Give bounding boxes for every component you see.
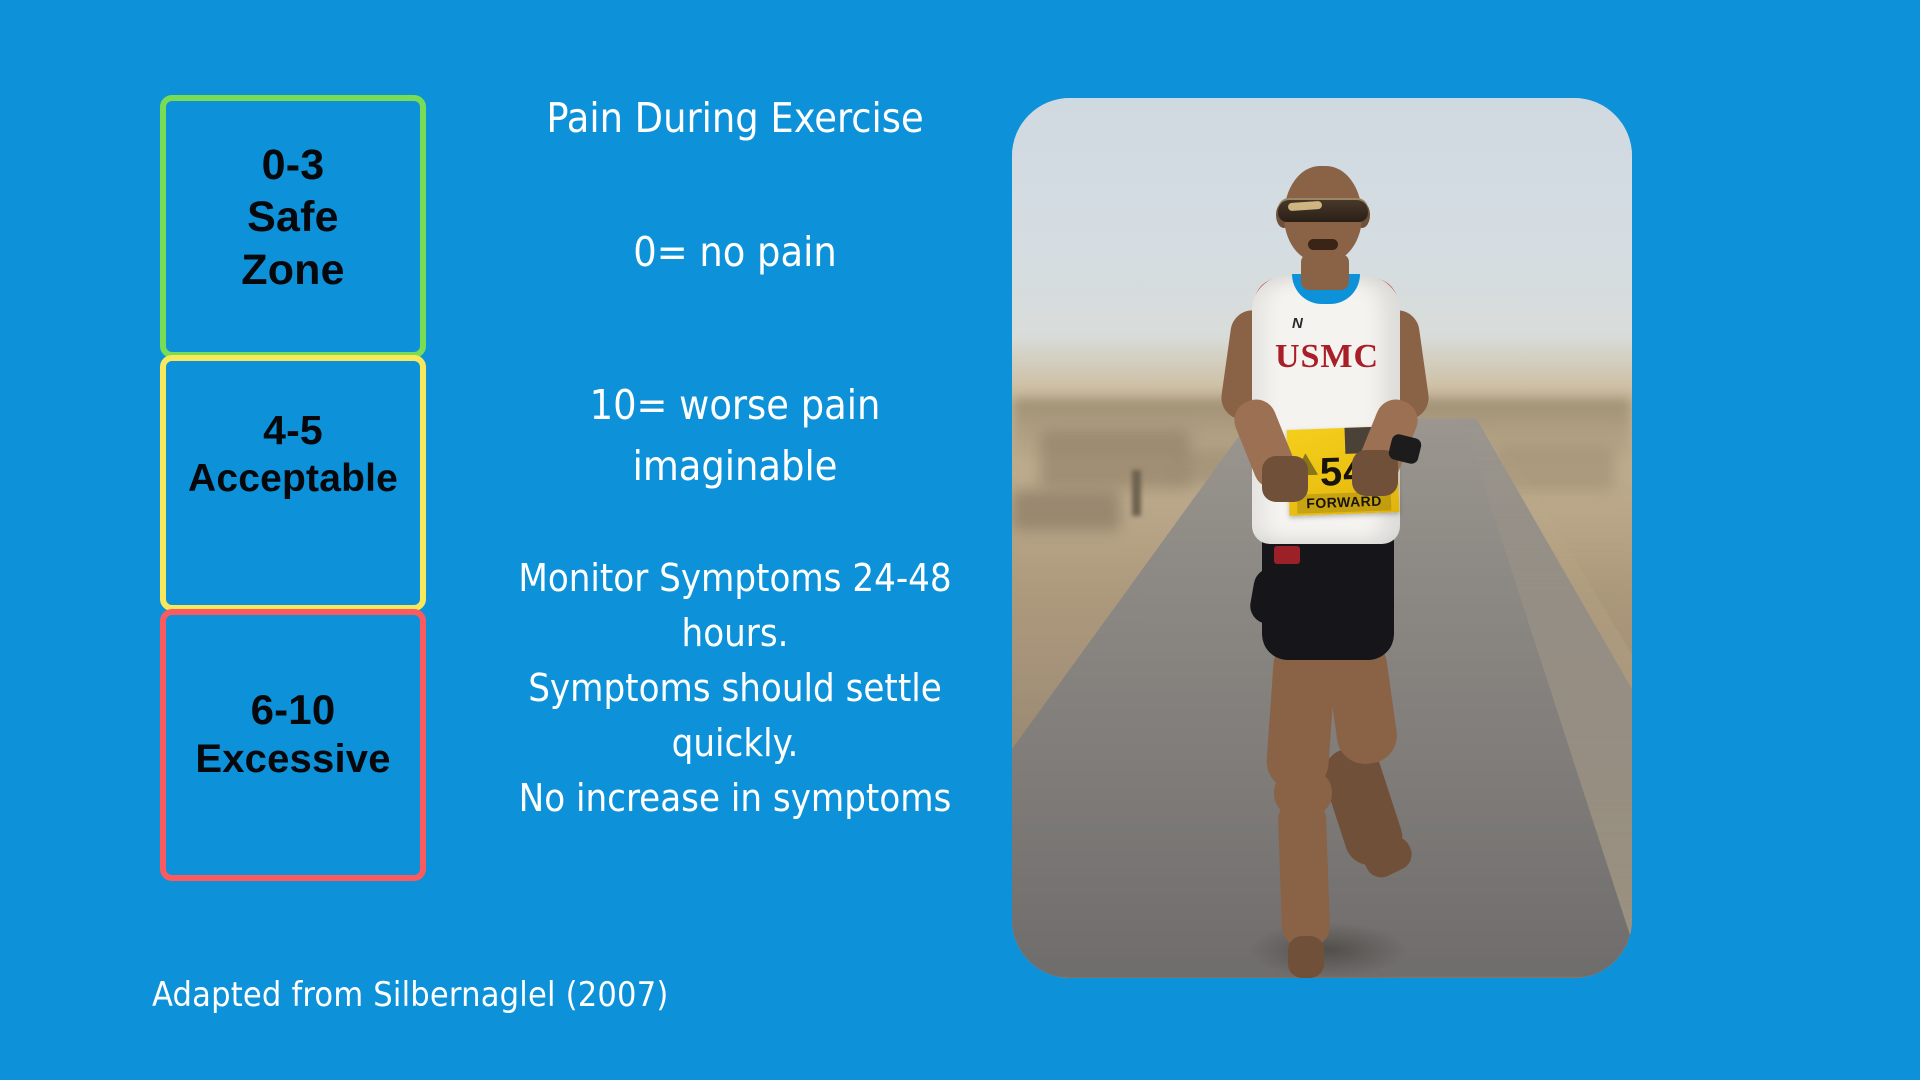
center-text-column: Pain During Exercise 0= no pain 10= wors… [500, 95, 970, 826]
singlet-usmc-text: USMC [1268, 338, 1386, 376]
monitor-line-4: quickly. [500, 716, 970, 771]
zone-safe-label2: Zone [241, 244, 345, 296]
shorts-logo [1274, 546, 1300, 564]
zone-excessive-range: 6-10 [251, 684, 336, 735]
pain-zero-definition: 0= no pain [500, 228, 970, 277]
attribution-text: Adapted from Silbernaglel (2007) [152, 975, 669, 1015]
monitor-line-3: Symptoms should settle [500, 661, 970, 716]
zone-box-excessive: 6-10 Excessive [160, 609, 426, 881]
singlet-brand-logo: N [1292, 316, 1322, 332]
zone-excessive-label: Excessive [195, 735, 390, 784]
runner-photo: N USMC 54 FORWARD [1012, 98, 1632, 978]
zone-acceptable-label: Acceptable [188, 455, 398, 503]
monitoring-instructions: Monitor Symptoms 24-48 hours. Symptoms s… [500, 551, 970, 826]
zone-safe-label: Safe [247, 191, 339, 243]
monitor-line-1: Monitor Symptoms 24-48 [500, 551, 970, 606]
monitor-line-5: No increase in symptoms [500, 771, 970, 826]
zone-safe-range: 0-3 [262, 139, 325, 191]
zone-acceptable-range: 4-5 [263, 405, 323, 455]
pain-ten-line-2: imaginable [500, 436, 970, 497]
runner-mouth [1308, 239, 1338, 250]
monitor-line-2: hours. [500, 606, 970, 661]
page-title: Pain During Exercise [500, 95, 970, 142]
runner-figure: N USMC 54 FORWARD [1012, 98, 1632, 978]
pain-scale-column: 0-3 Safe Zone 4-5 Acceptable 6-10 Excess… [160, 95, 426, 881]
runner-left-fist [1262, 456, 1308, 502]
runner-left-shin [1277, 797, 1330, 949]
photo-background: N USMC 54 FORWARD [1012, 98, 1632, 978]
slide-canvas: 0-3 Safe Zone 4-5 Acceptable 6-10 Excess… [0, 0, 1920, 1080]
pain-ten-line-1: 10= worse pain [500, 375, 970, 436]
zone-box-acceptable: 4-5 Acceptable [160, 355, 426, 611]
runner-left-ankle [1288, 936, 1324, 978]
zone-box-safe: 0-3 Safe Zone [160, 95, 426, 358]
pain-ten-definition: 10= worse pain imaginable [500, 375, 970, 496]
